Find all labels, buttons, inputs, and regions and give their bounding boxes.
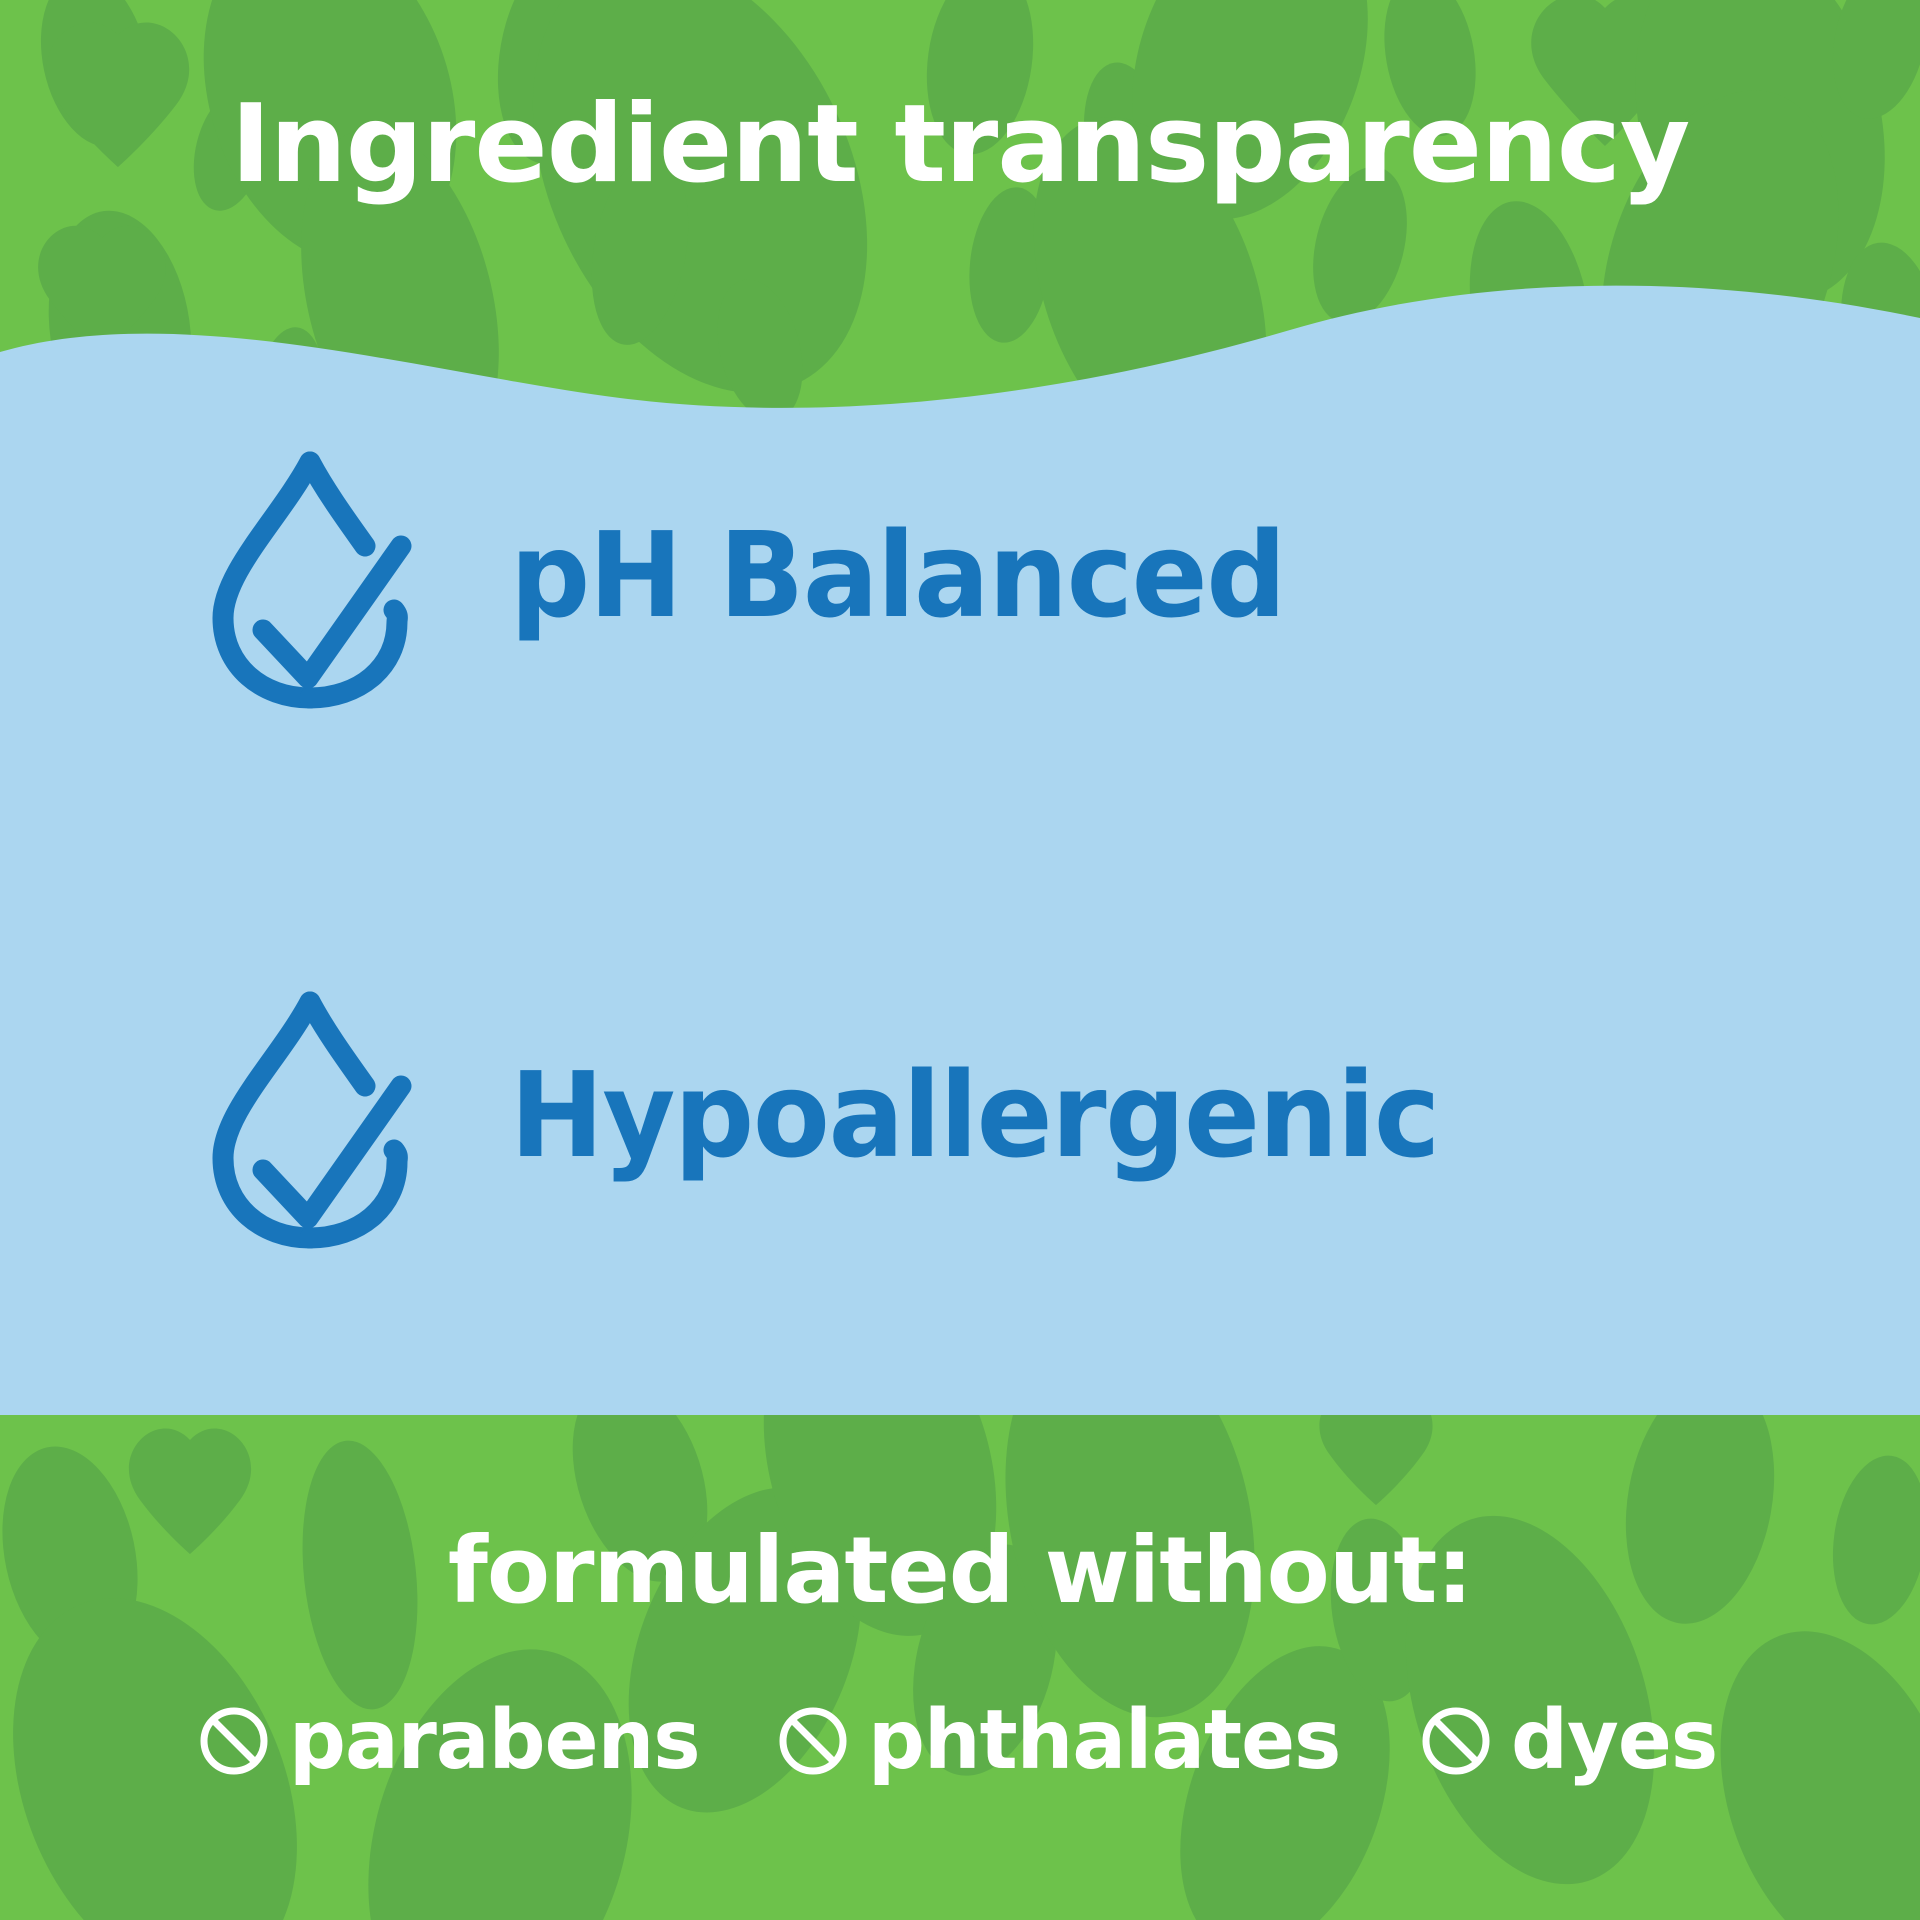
page-title: Ingredient transparency (0, 88, 1920, 201)
droplet-check-icon (185, 440, 435, 710)
prohibited-icon (1419, 1704, 1493, 1778)
without-item-dyes: dyes (1419, 1700, 1724, 1782)
without-label: phthalates (868, 1700, 1340, 1782)
prohibited-icon (197, 1704, 271, 1778)
claim-item-ph-balanced: pH Balanced (0, 430, 1920, 720)
without-item-parabens: parabens (197, 1700, 712, 1782)
without-item-phthalates: phthalates (776, 1700, 1355, 1782)
droplet-check-icon (185, 980, 435, 1250)
without-label: parabens (289, 1700, 700, 1782)
claim-label: Hypoallergenic (510, 1056, 1439, 1174)
claims-list: pH Balanced Hypoallergenic (0, 430, 1920, 1260)
prohibited-icon (776, 1704, 850, 1778)
without-label: dyes (1511, 1700, 1717, 1782)
formulated-without-heading: formulated without: (0, 1525, 1920, 1617)
claim-item-hypoallergenic: Hypoallergenic (0, 970, 1920, 1260)
claim-label: pH Balanced (510, 516, 1285, 634)
formulated-without-list: parabens phthalates dyes (0, 1700, 1920, 1782)
infographic-canvas: Ingredient transparency (0, 0, 1920, 1920)
